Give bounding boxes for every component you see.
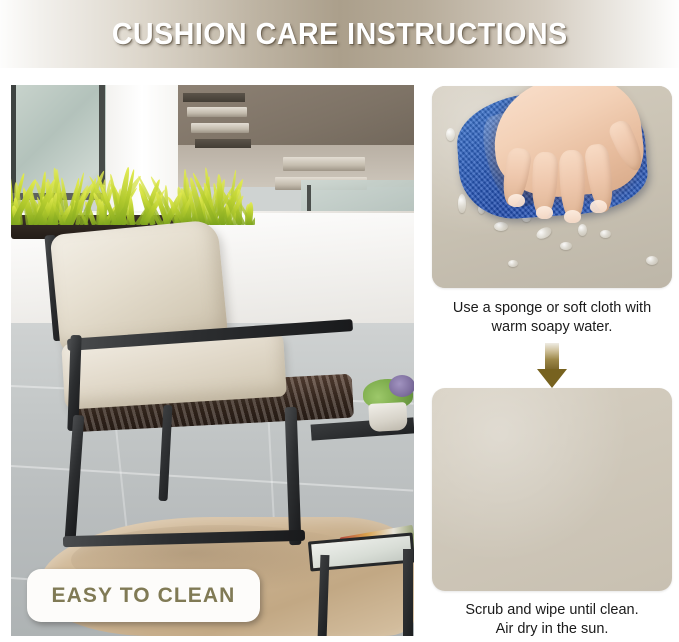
step-1-image [432,86,672,288]
stair-tread [195,139,251,148]
water-droplet [508,260,518,267]
water-droplet [494,222,508,231]
water-droplet [646,256,658,265]
stair-tread [283,157,365,171]
fingernail [564,210,581,223]
fingernail [536,206,553,219]
potted-plant-flowers [389,375,414,397]
main-product-photo [11,85,414,636]
water-droplet [578,224,587,236]
stair-tread [191,123,249,133]
water-droplet [600,230,611,238]
step-1-caption: Use a sponge or soft cloth with warm soa… [432,299,672,337]
side-table-leg [403,549,413,636]
step-1-caption-line-1: Use a sponge or soft cloth with [432,299,672,318]
infographic-page: CUSHION CARE INSTRUCTIONS [0,0,679,642]
stair-tread [187,107,247,117]
ornamental-grass [11,163,255,225]
arrow-down-icon [432,343,672,388]
plant-pot [368,402,407,432]
fingernail [508,194,525,207]
step-2-caption-line-2: Air dry in the sun. [432,620,672,639]
page-title: CUSHION CARE INSTRUCTIONS [112,16,568,52]
arrow-shaft [545,343,559,370]
step-2-caption: Scrub and wipe until clean. Air dry in t… [432,601,672,639]
arrow-head [537,369,567,388]
water-droplet [560,242,572,250]
water-droplet [458,194,466,213]
easy-to-clean-badge: EASY TO CLEAN [27,569,260,622]
easy-to-clean-label: EASY TO CLEAN [52,584,236,608]
step-1-caption-line-2: warm soapy water. [432,318,672,337]
fingernail [590,200,607,213]
care-steps-column: Use a sponge or soft cloth with warm soa… [432,86,672,639]
step-2-caption-line-1: Scrub and wipe until clean. [432,601,672,620]
water-droplet [446,128,455,141]
header-banner: CUSHION CARE INSTRUCTIONS [0,0,679,68]
stair-tread [183,93,245,102]
step-2-image [432,388,672,591]
